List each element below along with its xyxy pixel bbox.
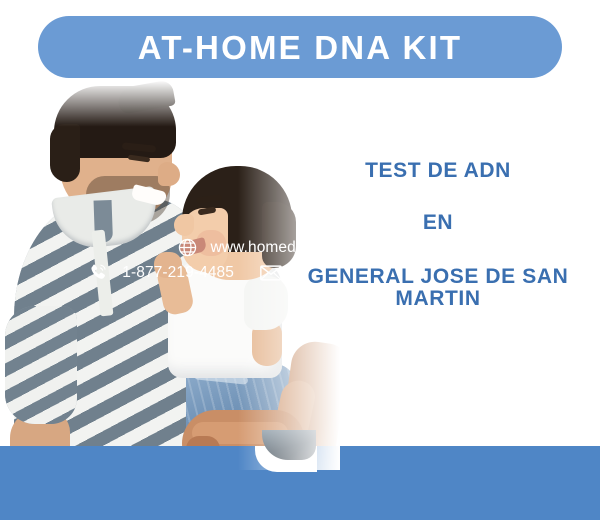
envelope-icon bbox=[260, 264, 282, 282]
dna-kit-poster: AT-HOME DNA KIT bbox=[0, 0, 600, 520]
globe-icon bbox=[177, 237, 198, 258]
headline-line-2: EN bbox=[288, 212, 588, 234]
headline-block: TEST DE ADN EN GENERAL JOSE DE SAN MARTI… bbox=[288, 160, 588, 310]
phone-icon bbox=[88, 262, 109, 283]
footer-phone[interactable]: 1-877-219-4485 bbox=[88, 262, 234, 283]
headline-line-3: GENERAL JOSE DE SAN MARTIN bbox=[288, 266, 588, 310]
phone-label: 1-877-219-4485 bbox=[122, 264, 234, 282]
headline-line-1: TEST DE ADN bbox=[288, 160, 588, 182]
